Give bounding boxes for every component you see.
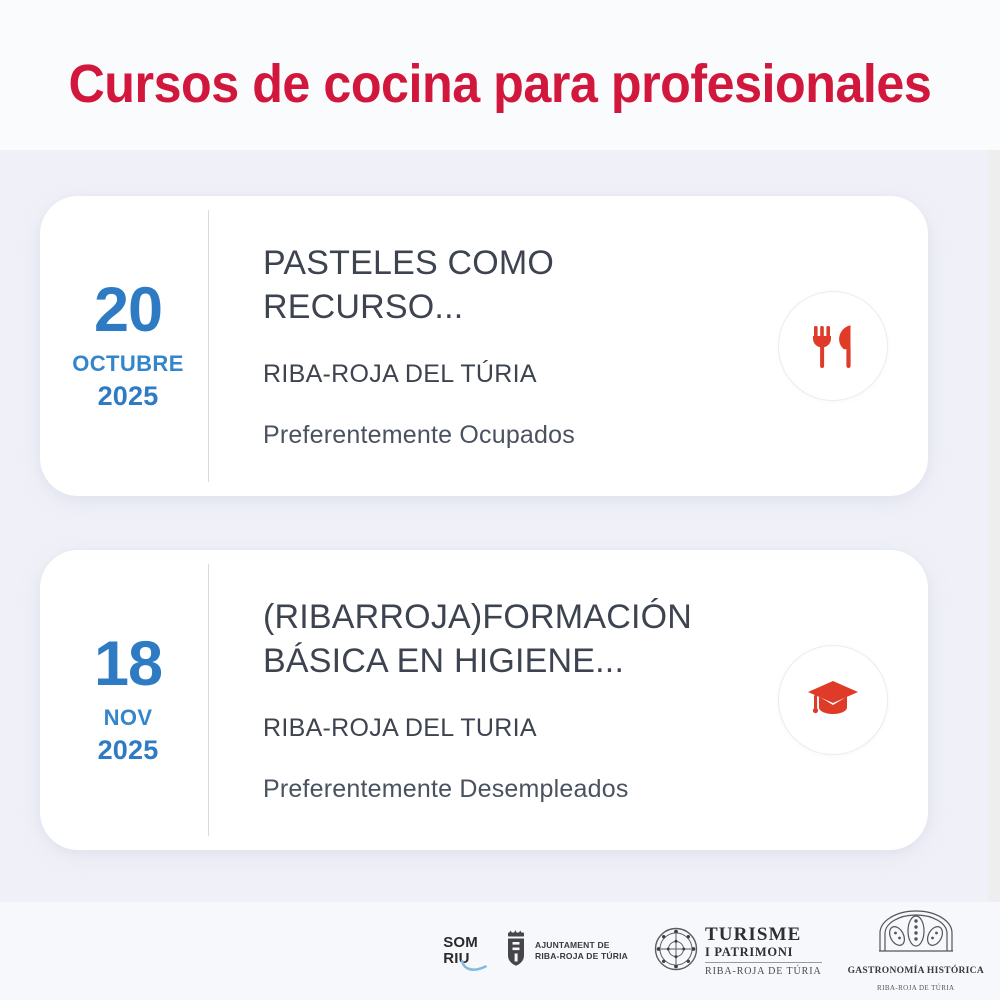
som-riu-line1: SOM	[443, 935, 478, 951]
course-list: 20 OCTUBRE 2025 PASTELES COMO RECURSO...…	[0, 150, 988, 902]
course-info: PASTELES COMO RECURSO... RIBA-ROJA DEL T…	[209, 196, 738, 496]
ajuntament-logo: AJUNTAMENT DE RIBA-ROJA DE TÚRIA	[504, 930, 628, 973]
course-card[interactable]: 20 OCTUBRE 2025 PASTELES COMO RECURSO...…	[40, 196, 928, 496]
course-date-month: NOV	[104, 705, 153, 731]
course-icon-wrap	[738, 550, 928, 850]
turisme-line3: RIBA-ROJA DE TÚRIA	[705, 963, 822, 977]
shield-crest-icon	[504, 930, 528, 973]
course-title: PASTELES COMO RECURSO...	[263, 242, 738, 329]
ajuntament-line2: RIBA-ROJA DE TÚRIA	[535, 951, 628, 962]
graduation-cap-icon	[807, 679, 859, 721]
course-date-month: OCTUBRE	[72, 351, 184, 377]
course-info: (RIBARROJA)FORMACIÓN BÁSICA EN HIGIENE..…	[209, 550, 738, 850]
som-riu-logo: SOM RIU	[443, 935, 478, 967]
turisme-line1: TURISME	[705, 925, 822, 945]
rosette-icon	[654, 927, 698, 976]
logo-row: SOM RIU	[443, 910, 984, 992]
course-date-day: 18	[94, 634, 162, 694]
course-location: RIBA-ROJA DEL TÚRIA	[263, 360, 738, 389]
course-date: 18 NOV 2025	[40, 550, 208, 850]
course-date: 20 OCTUBRE 2025	[40, 196, 208, 496]
course-icon-wrap	[738, 196, 928, 496]
course-audience: Preferentemente Ocupados	[263, 421, 738, 450]
page-title: Cursos de cocina para profesionales	[69, 39, 932, 111]
gastronomia-historica-logo: GASTRONOMÍA HISTÓRICA RIBA-ROJA DE TÚRIA	[848, 910, 984, 992]
turisme-patrimoni-logo: TURISME I PATRIMONI RIBA-ROJA DE TÚRIA	[654, 925, 822, 976]
course-date-year: 2025	[98, 381, 159, 412]
fork-knife-icon	[810, 322, 856, 370]
page-root: Cursos de cocina para profesionales 20 O…	[0, 0, 1000, 1000]
scrollbar-gutter[interactable]	[988, 150, 1000, 902]
course-title: (RIBARROJA)FORMACIÓN BÁSICA EN HIGIENE..…	[263, 596, 738, 683]
swoosh-icon	[461, 960, 487, 978]
page-header: Cursos de cocina para profesionales	[0, 0, 1000, 150]
course-card[interactable]: 18 NOV 2025 (RIBARROJA)FORMACIÓN BÁSICA …	[40, 550, 928, 850]
course-date-year: 2025	[98, 735, 159, 766]
course-audience: Preferentemente Desempleados	[263, 775, 738, 804]
course-icon-circle	[778, 291, 888, 401]
footer-logos: SOM RIU	[0, 902, 1000, 1000]
course-date-day: 20	[94, 280, 162, 340]
course-icon-circle	[778, 645, 888, 755]
ajuntament-line1: AJUNTAMENT DE	[535, 940, 628, 951]
turisme-line2: I PATRIMONI	[705, 945, 822, 962]
arch-emblem-icon	[877, 910, 955, 957]
course-location: RIBA-ROJA DEL TURIA	[263, 714, 738, 743]
gastronomia-line2: RIBA-ROJA DE TÚRIA	[877, 984, 954, 992]
gastronomia-line1: GASTRONOMÍA HISTÓRICA	[848, 966, 984, 977]
